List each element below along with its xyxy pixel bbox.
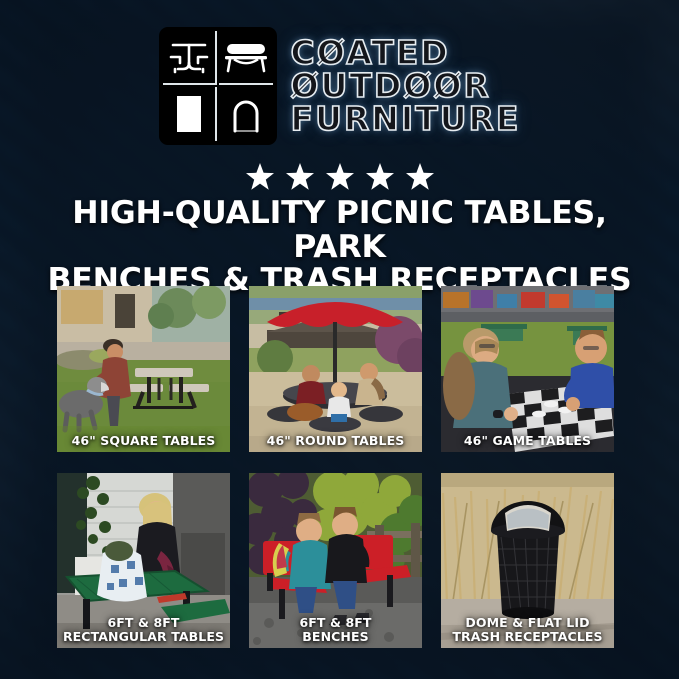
tile-caption: 46" GAME TABLES <box>441 434 614 448</box>
tile-caption: 46" ROUND TABLES <box>249 434 422 448</box>
wordmark-line-3: FURNITURE <box>291 103 521 135</box>
headline-line-1: HIGH-QUALITY PICNIC TABLES, PARK <box>72 195 607 265</box>
picnic-table-icon <box>163 31 217 85</box>
gallery-tile-game-tables[interactable]: 46" GAME TABLES <box>441 286 614 452</box>
gallery-tile-square-tables[interactable]: 46" SQUARE TABLES <box>57 286 230 452</box>
star-icon <box>325 162 355 191</box>
star-icon <box>405 162 435 191</box>
brand-wordmark: CØATED ØUTDØØR FURNITURE <box>291 37 521 134</box>
game-table-photo <box>441 286 614 452</box>
caption-line-1: 46" GAME TABLES <box>464 433 591 448</box>
caption-line-2: RECTANGULAR TABLES <box>57 630 230 644</box>
bench-icon <box>219 31 273 85</box>
round-table-photo <box>249 286 422 452</box>
caption-line-1: 6FT & 8FT <box>107 615 179 630</box>
caption-line-2: BENCHES <box>249 630 422 644</box>
caption-line-1: 6FT & 8FT <box>299 615 371 630</box>
gallery-tile-rectangular-tables[interactable]: 6FT & 8FT RECTANGULAR TABLES <box>57 473 230 648</box>
square-table-photo <box>57 286 230 452</box>
tile-caption: 6FT & 8FT BENCHES <box>249 616 422 643</box>
star-icon <box>245 162 275 191</box>
product-gallery: 46" SQUARE TABLES <box>57 286 622 648</box>
trash-receptacle-icon <box>163 87 217 141</box>
star-rating <box>0 160 679 192</box>
bike-rack-icon <box>219 87 273 141</box>
brand-logo: CØATED ØUTDØØR FURNITURE <box>0 26 679 146</box>
star-icon <box>365 162 395 191</box>
tile-caption: 46" SQUARE TABLES <box>57 434 230 448</box>
wordmark-line-2: ØUTDØØR <box>291 70 521 102</box>
promo-banner: CØATED ØUTDØØR FURNITURE HIGH-QUALITY PI… <box>0 0 679 679</box>
caption-line-1: DOME & FLAT LID <box>465 615 589 630</box>
gallery-tile-round-tables[interactable]: 46" ROUND TABLES <box>249 286 422 452</box>
page-title: HIGH-QUALITY PICNIC TABLES, PARK BENCHES… <box>28 197 651 298</box>
gallery-tile-benches[interactable]: 6FT & 8FT BENCHES <box>249 473 422 648</box>
star-icon <box>285 162 315 191</box>
logo-icon-grid <box>159 27 277 145</box>
caption-line-2: TRASH RECEPTACLES <box>441 630 614 644</box>
caption-line-1: 46" ROUND TABLES <box>267 433 405 448</box>
wordmark-line-1: CØATED <box>291 37 521 69</box>
tile-caption: DOME & FLAT LID TRASH RECEPTACLES <box>441 616 614 643</box>
caption-line-1: 46" SQUARE TABLES <box>72 433 216 448</box>
tile-caption: 6FT & 8FT RECTANGULAR TABLES <box>57 616 230 643</box>
gallery-tile-trash-receptacles[interactable]: DOME & FLAT LID TRASH RECEPTACLES <box>441 473 614 648</box>
